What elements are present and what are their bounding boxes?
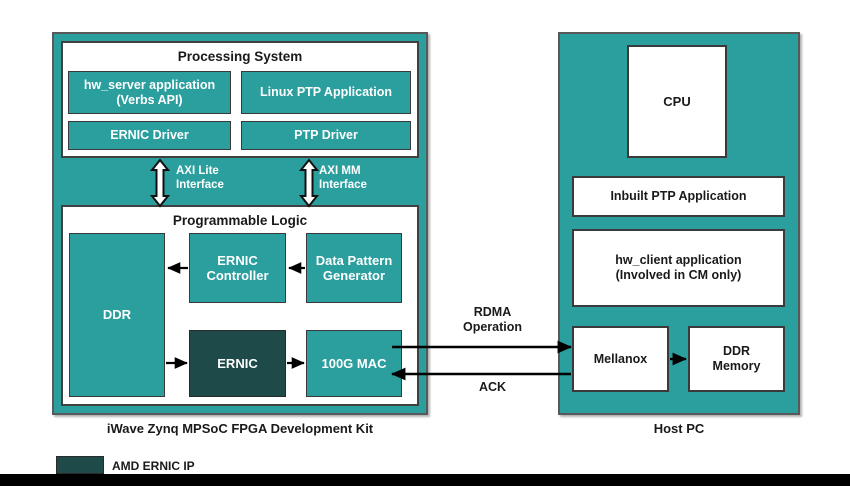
diagram-canvas: Processing System hw_server application … (0, 0, 850, 486)
ernic-driver-block[interactable]: ERNIC Driver (68, 121, 231, 150)
axi-mm-line2: Interface (319, 179, 367, 193)
rdma-operation-line2: Operation (430, 320, 555, 335)
inbuilt-ptp-application-block[interactable]: Inbuilt PTP Application (572, 176, 785, 217)
hw-client-application-line2: (Involved in CM only) (616, 268, 742, 283)
ernic-driver-label: ERNIC Driver (110, 128, 189, 143)
mellanox-label: Mellanox (594, 352, 648, 367)
ernic-ip-label: ERNIC (217, 356, 257, 371)
ernic-controller-line1: ERNIC (217, 253, 257, 268)
mac-100g-block[interactable]: 100G MAC (306, 330, 402, 397)
cpu-block[interactable]: CPU (627, 45, 727, 158)
linux-ptp-application-label: Linux PTP Application (260, 85, 392, 100)
cpu-label: CPU (663, 94, 690, 109)
data-pattern-generator-block[interactable]: Data Pattern Generator (306, 233, 402, 303)
processing-system-title: Processing System (63, 49, 417, 64)
mellanox-block[interactable]: Mellanox (572, 326, 669, 392)
linux-ptp-application-block[interactable]: Linux PTP Application (241, 71, 411, 114)
ddr-block[interactable]: DDR (69, 233, 165, 397)
rdma-operation-label: RDMA Operation (430, 305, 555, 335)
inbuilt-ptp-application-label: Inbuilt PTP Application (610, 189, 746, 204)
programmable-logic-title: Programmable Logic (63, 213, 417, 228)
ernic-controller-line2: Controller (206, 268, 268, 283)
data-pattern-generator-line2: Generator (323, 268, 385, 283)
rdma-operation-line1: RDMA (430, 305, 555, 320)
data-pattern-generator-line1: Data Pattern (316, 253, 393, 268)
ack-label: ACK (430, 380, 555, 395)
axi-lite-line1: AXI Lite (176, 165, 224, 179)
axi-lite-line2: Interface (176, 179, 224, 193)
legend-swatch-amd-ernic-ip (56, 456, 104, 474)
host-pc-caption: Host PC (558, 421, 800, 436)
ptp-driver-block[interactable]: PTP Driver (241, 121, 411, 150)
axi-lite-interface-label: AXI Lite Interface (176, 165, 224, 193)
ddr-memory-line2: Memory (713, 359, 761, 374)
ptp-driver-label: PTP Driver (294, 128, 358, 143)
bottom-bar (0, 474, 850, 486)
ddr-label: DDR (103, 307, 131, 322)
hw-server-application-block[interactable]: hw_server application (Verbs API) (68, 71, 231, 114)
ddr-memory-block[interactable]: DDR Memory (688, 326, 785, 392)
hw-client-application-block[interactable]: hw_client application (Involved in CM on… (572, 229, 785, 307)
mac-100g-label: 100G MAC (321, 356, 386, 371)
hw-server-application-line2: (Verbs API) (116, 93, 182, 108)
ernic-ip-block[interactable]: ERNIC (189, 330, 286, 397)
hw-client-application-line1: hw_client application (615, 253, 741, 268)
ernic-controller-block[interactable]: ERNIC Controller (189, 233, 286, 303)
legend-label-amd-ernic-ip: AMD ERNIC IP (112, 459, 195, 473)
ddr-memory-line1: DDR (723, 344, 750, 359)
hw-server-application-line1: hw_server application (84, 78, 215, 93)
axi-mm-line1: AXI MM (319, 165, 367, 179)
axi-mm-interface-label: AXI MM Interface (319, 165, 367, 193)
fpga-dev-kit-caption: iWave Zynq MPSoC FPGA Development Kit (52, 421, 428, 436)
ack-line1: ACK (430, 380, 555, 395)
